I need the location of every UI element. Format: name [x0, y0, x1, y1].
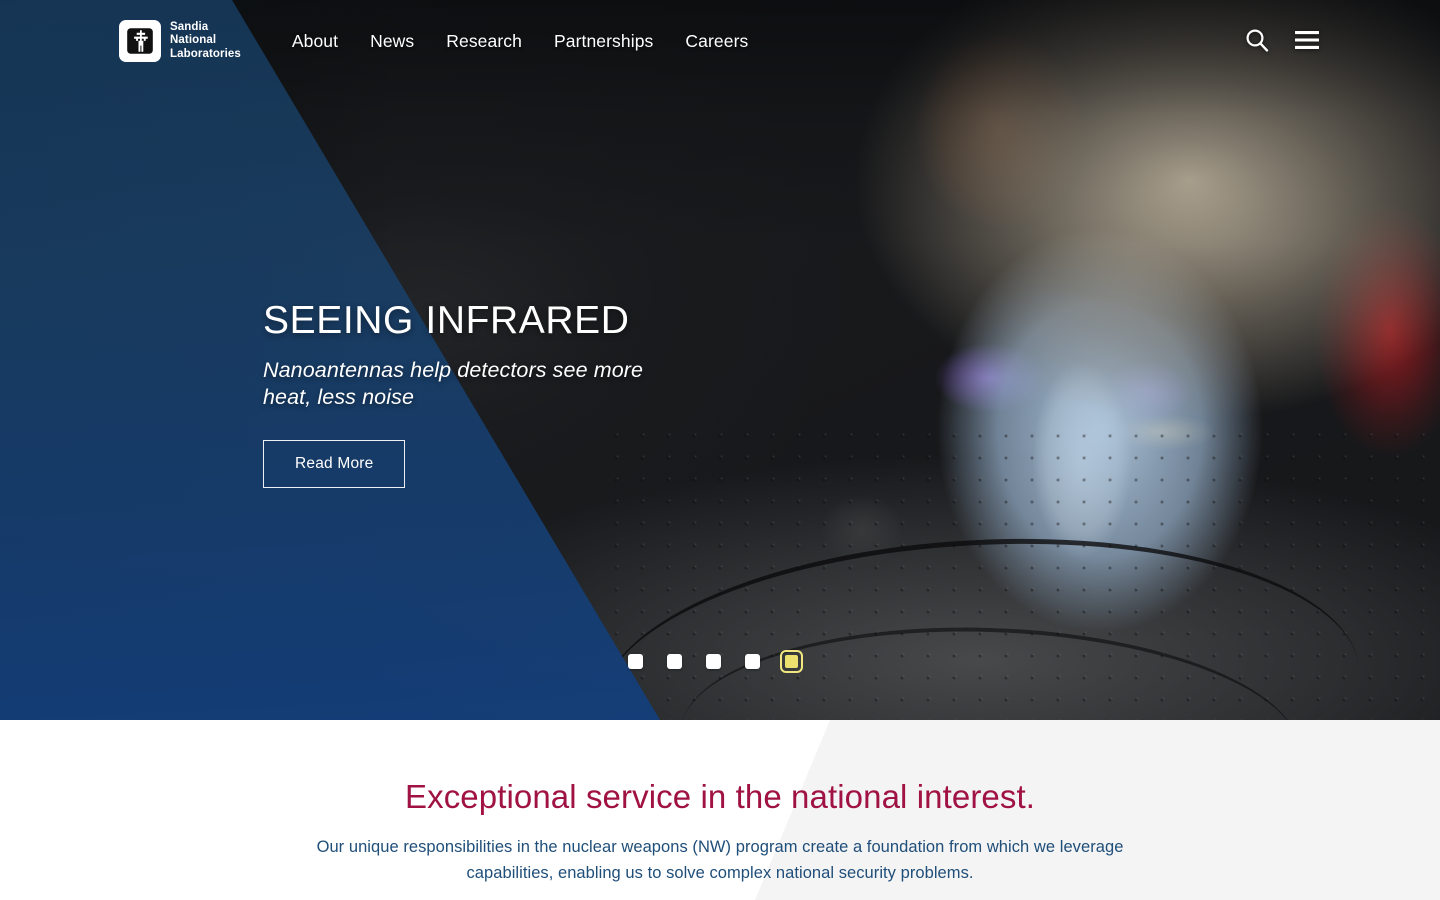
hamburger-menu-icon: [1294, 29, 1320, 54]
mission-content: Exceptional service in the national inte…: [0, 720, 1440, 886]
carousel-dot-5-active[interactable]: [780, 650, 803, 673]
brand-wordmark: Sandia National Laboratories: [170, 21, 241, 61]
brand-line-3: Laboratories: [170, 48, 241, 60]
nav-item-research[interactable]: Research: [430, 23, 538, 60]
hero-read-more-button[interactable]: Read More: [263, 440, 405, 488]
nav-item-partnerships[interactable]: Partnerships: [538, 23, 669, 60]
site-logo-link[interactable]: Sandia National Laboratories: [119, 20, 241, 62]
mission-statement-section: Exceptional service in the national inte…: [0, 720, 1440, 900]
sandia-thunderbird-logo-icon: [119, 20, 161, 62]
hero-subtitle: Nanoantennas help detectors see more hea…: [263, 357, 693, 411]
carousel-pagination: [628, 650, 803, 673]
carousel-dot-3[interactable]: [706, 654, 721, 669]
hero-slide-content: SEEING INFRARED Nanoantennas help detect…: [263, 298, 693, 488]
carousel-dot-1[interactable]: [628, 654, 643, 669]
hero-title: SEEING INFRARED: [263, 298, 693, 344]
site-header: Sandia National Laboratories About News …: [0, 0, 1440, 82]
mission-body-text: Our unique responsibilities in the nucle…: [275, 834, 1165, 886]
nav-item-news[interactable]: News: [354, 23, 430, 60]
nav-item-careers[interactable]: Careers: [669, 23, 764, 60]
menu-button[interactable]: [1292, 27, 1322, 56]
hero-carousel: Sandia National Laboratories About News …: [0, 0, 1440, 720]
carousel-dot-4[interactable]: [745, 654, 760, 669]
brand-line-1: Sandia: [170, 21, 208, 33]
carousel-dot-active-fill: [785, 655, 798, 668]
mission-title: Exceptional service in the national inte…: [0, 777, 1440, 817]
search-button[interactable]: [1242, 25, 1272, 58]
carousel-dot-2[interactable]: [667, 654, 682, 669]
nav-item-about[interactable]: About: [276, 23, 354, 60]
brand-line-2: National: [170, 34, 216, 46]
primary-navigation: About News Research Partnerships Careers: [276, 23, 765, 60]
search-icon: [1244, 27, 1270, 56]
header-tools: [1242, 25, 1322, 58]
